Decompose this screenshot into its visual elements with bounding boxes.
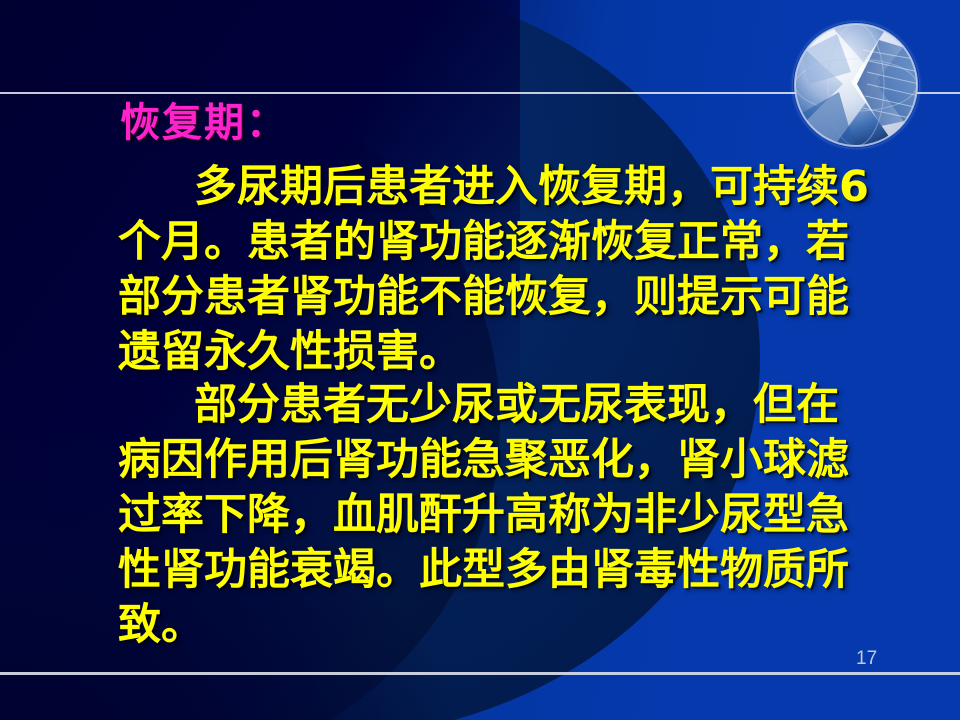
- paragraph-recovery: 多尿期后患者进入恢复期，可持续6 个月。患者的肾功能逐渐恢复正常，若 部分患者肾…: [118, 160, 908, 380]
- paragraph-line: 病因作用后肾功能急聚恶化，肾小球滤: [118, 433, 908, 488]
- paragraph-line: 遗留永久性损害。: [118, 325, 908, 380]
- paragraph-line: 过率下降，血肌酐升高称为非少尿型急: [118, 488, 908, 543]
- globe-logo: [793, 22, 919, 148]
- page-number: 17: [856, 648, 877, 670]
- paragraph-line: 部分患者无少尿或无尿表现，但在: [118, 378, 908, 433]
- presentation-slide: 恢复期： 多尿期后患者进入恢复期，可持续6 个月。患者的肾功能逐渐恢复正常，若 …: [0, 0, 960, 720]
- paragraph-line: 部分患者肾功能不能恢复，则提示可能: [118, 270, 908, 325]
- paragraph-line: 致。: [118, 598, 908, 653]
- footer-divider-line: [0, 672, 960, 675]
- paragraph-line: 性肾功能衰竭。此型多由肾毒性物质所: [118, 543, 908, 598]
- paragraph-nonoliguric: 部分患者无少尿或无尿表现，但在 病因作用后肾功能急聚恶化，肾小球滤 过率下降，血…: [118, 378, 908, 653]
- paragraph-line: 多尿期后患者进入恢复期，可持续6: [118, 160, 908, 215]
- paragraph-line: 个月。患者的肾功能逐渐恢复正常，若: [118, 215, 908, 270]
- page-title: 恢复期：: [120, 101, 288, 145]
